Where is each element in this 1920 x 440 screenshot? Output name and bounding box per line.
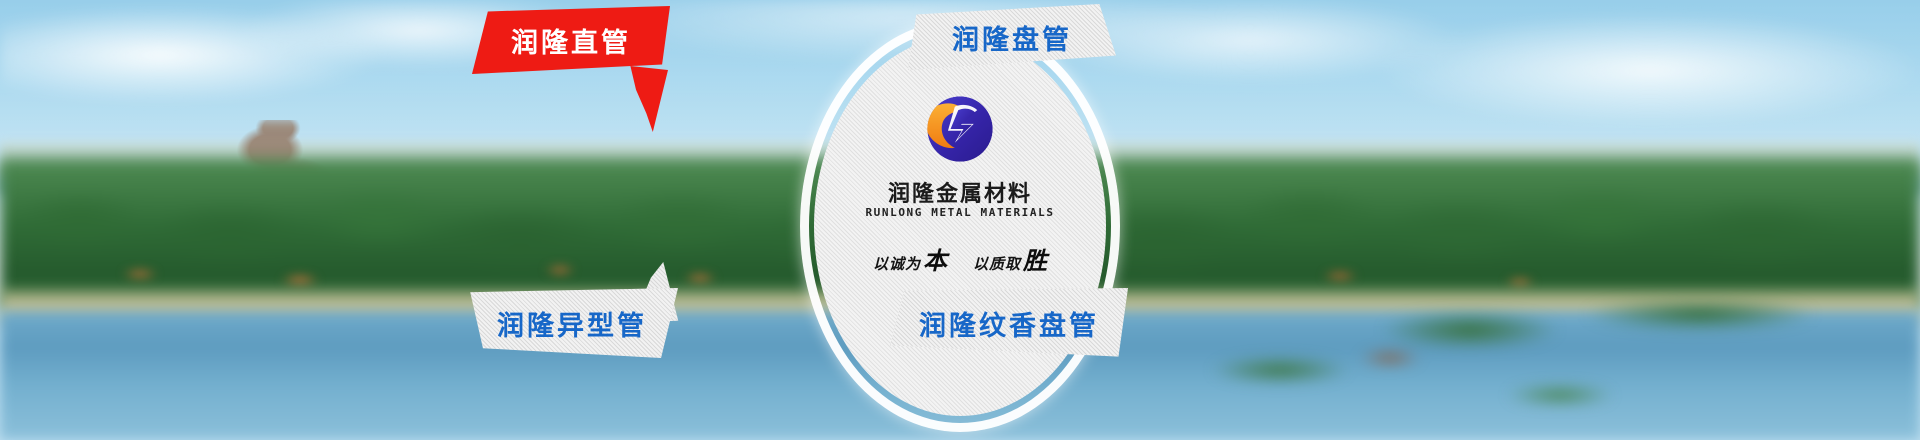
tag-shaped-pipe-label: 润隆异型管 <box>497 304 647 343</box>
promo-banner: 润隆金属材料 RUNLONG METAL MATERIALS 以诚为本 以质取胜… <box>0 0 1920 440</box>
tag-straight-pipe-label: 润隆直管 <box>511 21 631 60</box>
tag-straight-pipe[interactable]: 润隆直管 <box>472 6 670 74</box>
center-logo-circle: 润隆金属材料 RUNLONG METAL MATERIALS 以诚为本 以质取胜 <box>800 20 1120 432</box>
tag-textured-coil-pipe-label: 润隆纹香盘管 <box>919 304 1099 343</box>
tag-coil-pipe-label: 润隆盘管 <box>952 18 1072 57</box>
circle-outer-ring <box>800 20 1120 432</box>
tag-shaped-pipe[interactable]: 润隆异型管 <box>466 288 678 358</box>
